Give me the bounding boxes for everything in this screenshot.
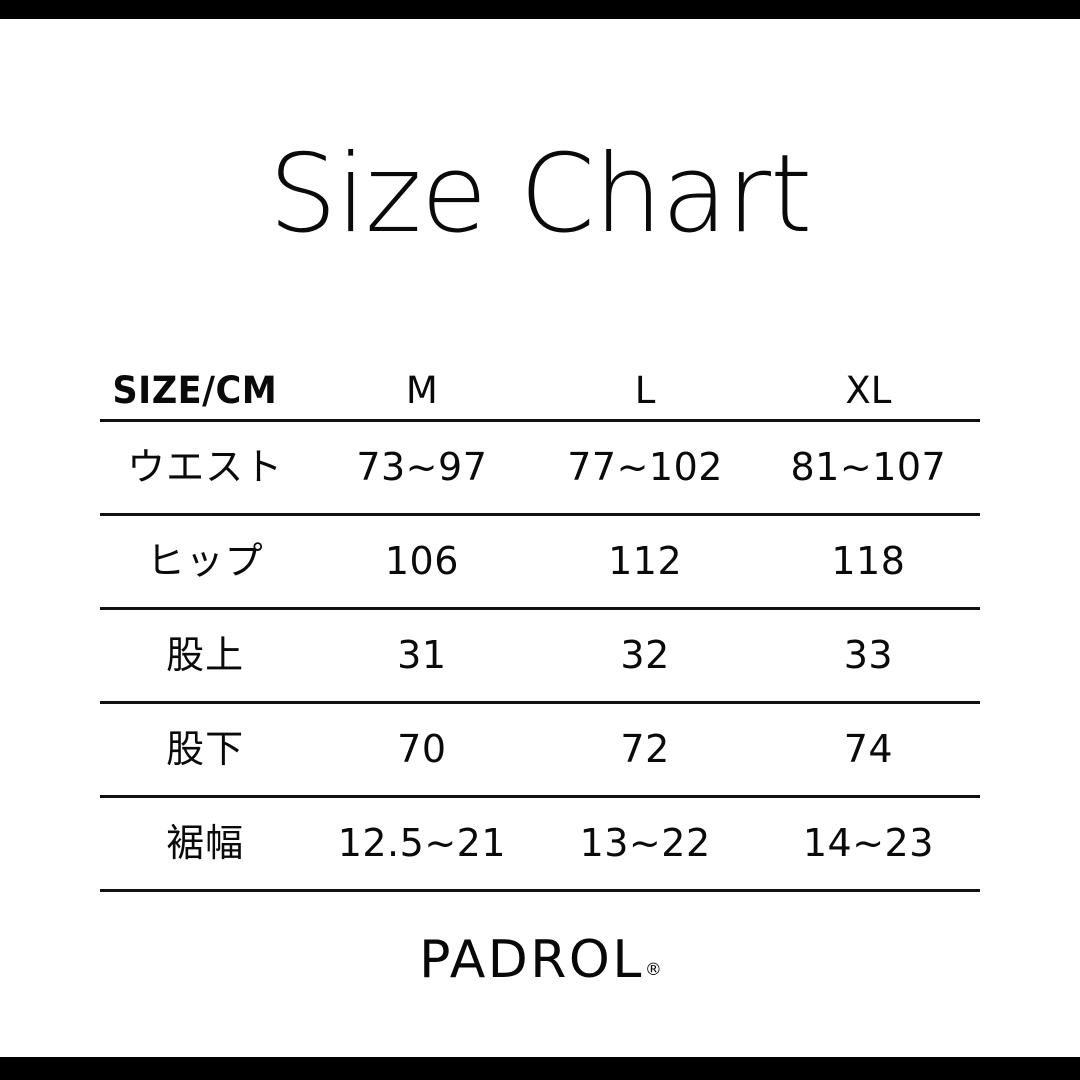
cell-rise-xl: 33: [757, 608, 980, 702]
cell-hem-width-l: 13~22: [533, 796, 756, 890]
cell-hip-xl: 118: [757, 514, 980, 608]
header-column-l: L: [533, 362, 756, 420]
row-label-hip: ヒップ: [100, 514, 310, 608]
cell-hip-l: 112: [533, 514, 756, 608]
bottom-letterbox-bar: [0, 1057, 1080, 1080]
table-row: ウエスト 73~97 77~102 81~107: [100, 420, 980, 514]
row-label-hem-width: 裾幅: [100, 796, 310, 890]
brand-name: PADROL: [419, 930, 644, 990]
cell-inseam-l: 72: [533, 702, 756, 796]
cell-rise-l: 32: [533, 608, 756, 702]
size-table-container: SIZE/CM M L XL ウエスト 73~97 77~102 81~107 …: [100, 362, 980, 892]
table-row: ヒップ 106 112 118: [100, 514, 980, 608]
size-table-header: SIZE/CM M L XL: [100, 362, 980, 420]
row-label-inseam: 股下: [100, 702, 310, 796]
header-column-m: M: [310, 362, 533, 420]
size-table-body: ウエスト 73~97 77~102 81~107 ヒップ 106 112 118…: [100, 420, 980, 890]
registered-trademark-icon: ®: [645, 960, 662, 980]
size-chart-page: Size Chart SIZE/CM M L XL ウエスト 73: [0, 0, 1080, 1080]
brand-logo: PADROL®: [0, 930, 1080, 990]
cell-waist-xl: 81~107: [757, 420, 980, 514]
header-column-xl: XL: [757, 362, 980, 420]
cell-waist-l: 77~102: [533, 420, 756, 514]
table-row: 股上 31 32 33: [100, 608, 980, 702]
cell-inseam-xl: 74: [757, 702, 980, 796]
row-label-rise: 股上: [100, 608, 310, 702]
size-table: SIZE/CM M L XL ウエスト 73~97 77~102 81~107 …: [100, 362, 980, 892]
top-letterbox-bar: [0, 0, 1080, 19]
cell-waist-m: 73~97: [310, 420, 533, 514]
table-row: 股下 70 72 74: [100, 702, 980, 796]
header-row: SIZE/CM M L XL: [100, 362, 980, 420]
row-label-waist: ウエスト: [100, 420, 310, 514]
cell-hip-m: 106: [310, 514, 533, 608]
page-title: Size Chart: [0, 138, 1080, 251]
cell-hem-width-m: 12.5~21: [310, 796, 533, 890]
cell-inseam-m: 70: [310, 702, 533, 796]
header-size-unit: SIZE/CM: [100, 362, 300, 420]
table-row: 裾幅 12.5~21 13~22 14~23: [100, 796, 980, 890]
cell-rise-m: 31: [310, 608, 533, 702]
cell-hem-width-xl: 14~23: [757, 796, 980, 890]
